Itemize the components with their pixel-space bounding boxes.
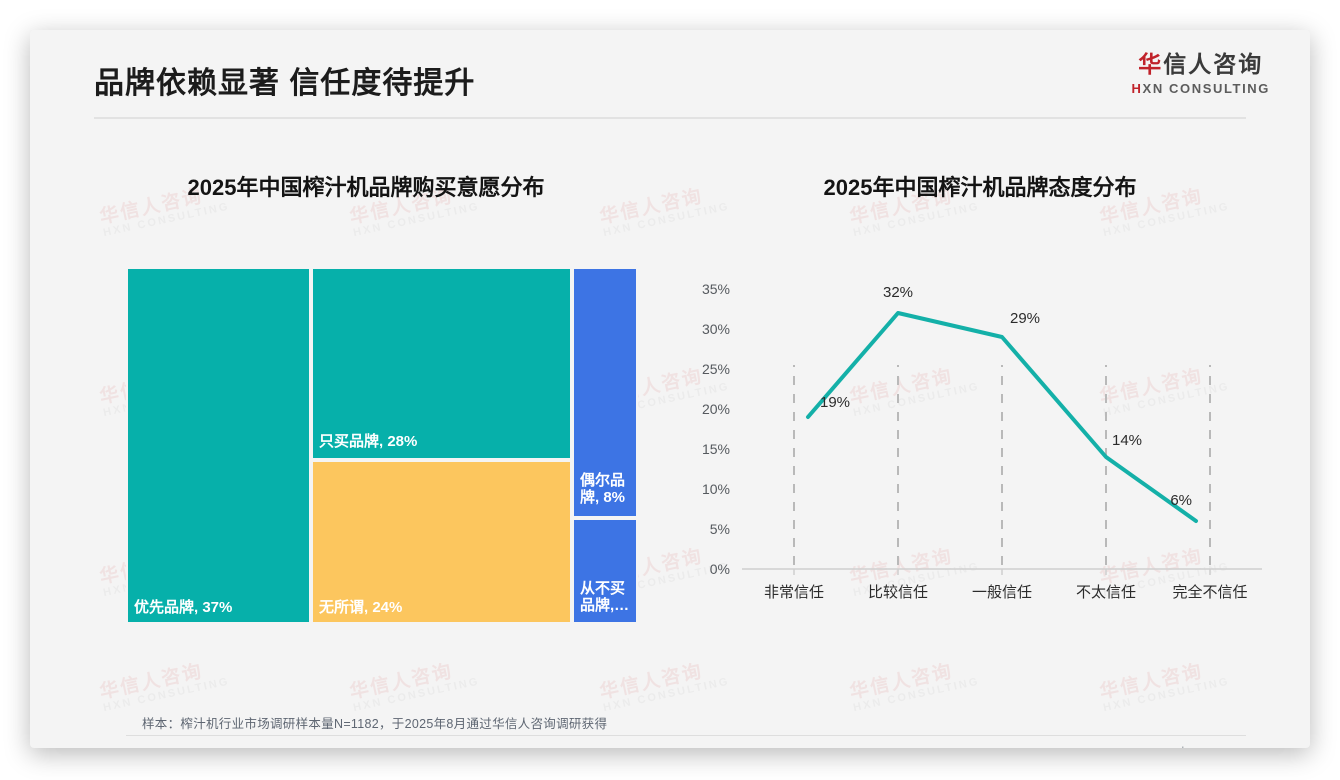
y-axis-tick-label: 0% (710, 561, 730, 577)
footer-copyright: ©2025.10 HXR华信人咨询 (126, 745, 273, 748)
y-axis-tick-label: 10% (702, 481, 730, 497)
treemap-cell-优先品牌[interactable]: 优先品牌, 37% (126, 267, 311, 624)
treemap-cell-label: 从不买品牌,… (580, 580, 632, 615)
x-axis-tick-label: 不太信任 (1076, 584, 1136, 601)
logo-english: HXN CONSULTING (1132, 81, 1270, 96)
slide-card: 华信人咨询HXN CONSULTING华信人咨询HXN CONSULTING华信… (30, 30, 1310, 748)
treemap-cell-无所谓[interactable]: 无所谓, 24% (311, 460, 572, 624)
header-divider (94, 117, 1246, 119)
data-point-label: 29% (1010, 310, 1040, 327)
data-point-label: 14% (1112, 432, 1142, 449)
data-point-label: 32% (883, 284, 913, 301)
treemap-cell-只买品牌[interactable]: 只买品牌, 28% (311, 267, 572, 460)
logo-chinese: 华信人咨询 (1132, 53, 1270, 76)
treemap-cell-从不买品牌[interactable]: 从不买品牌,… (572, 518, 638, 624)
page-title: 品牌依赖显著 信任度待提升 (94, 58, 475, 102)
y-axis-tick-label: 35% (702, 281, 730, 297)
treemap-cell-label: 无所谓, 24% (319, 599, 402, 616)
data-point-label: 6% (1170, 492, 1192, 509)
treemap-cell-偶尔品牌[interactable]: 偶尔品牌, 8% (572, 267, 638, 518)
x-axis-tick-label: 比较信任 (868, 583, 928, 601)
data-point-label: 19% (820, 394, 850, 411)
y-axis-tick-label: 5% (710, 521, 730, 537)
treemap-cell-label: 优先品牌, 37% (134, 599, 232, 616)
treemap-chart: 优先品牌, 37%只买品牌, 28%无所谓, 24%偶尔品牌, 8%从不买品牌,… (126, 267, 638, 624)
company-logo: 华信人咨询 HXN CONSULTING (1132, 53, 1270, 96)
y-axis-tick-label: 30% (702, 321, 730, 337)
logo-en-rest: XN CONSULTING (1143, 81, 1270, 96)
treemap-cell-label: 偶尔品牌, 8% (580, 472, 632, 507)
linechart-title: 2025年中国榨汁机品牌态度分布 (670, 170, 1290, 202)
x-axis-tick-label: 完全不信任 (1172, 583, 1247, 601)
logo-en-accent: H (1132, 81, 1143, 96)
treemap-cell-label: 只买品牌, 28% (319, 433, 417, 450)
footer-divider (126, 735, 1246, 736)
x-axis-tick-label: 一般信任 (972, 584, 1032, 601)
treemap-title: 2025年中国榨汁机品牌购买意愿分布 (66, 170, 666, 202)
purchase-intent-treemap-panel: 2025年中国榨汁机品牌购买意愿分布 优先品牌, 37%只买品牌, 28%无所谓… (66, 170, 666, 670)
y-axis-tick-label: 25% (702, 361, 730, 377)
y-axis-tick-label: 15% (702, 441, 730, 457)
y-axis-tick-label: 20% (702, 401, 730, 417)
brand-attitude-line-panel: 2025年中国榨汁机品牌态度分布 0%5%10%15%20%25%30%35%非… (670, 170, 1290, 670)
logo-cn-rest: 信人咨询 (1163, 51, 1263, 77)
x-axis-tick-label: 非常信任 (764, 584, 824, 601)
footer-website: www.hxrcon.com (1152, 745, 1246, 748)
sample-footnote: 样本：榨汁机行业市场调研样本量N=1182，于2025年8月通过华信人咨询调研获… (142, 713, 607, 732)
slide-header: 品牌依赖显著 信任度待提升 华信人咨询 HXN CONSULTING (30, 30, 1310, 120)
line-chart: 0%5%10%15%20%25%30%35%非常信任比较信任一般信任不太信任完全… (680, 267, 1280, 627)
logo-cn-accent: 华 (1138, 51, 1163, 77)
